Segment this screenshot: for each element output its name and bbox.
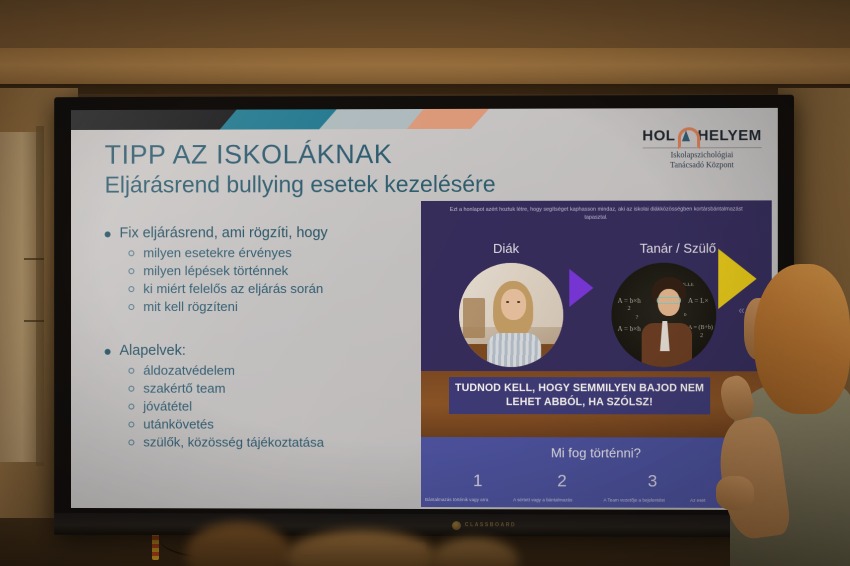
- chalk-formula: A = b×h: [618, 297, 641, 305]
- presenter-person: [720, 236, 850, 566]
- slide-bullet-list: Fix eljárásrend, ami rögzíti, hogy milye…: [105, 225, 433, 453]
- bullet-circle-icon: [128, 250, 134, 256]
- interactive-display[interactable]: HOL HELYEM Iskolapszichológiai Tanácsadó…: [54, 95, 794, 538]
- bullet-group-heading: Fix eljárásrend, ami rögzíti, hogy: [105, 225, 433, 241]
- display-brand-logo: CLASSBOARD: [452, 521, 516, 530]
- list-item: utánkövetés: [128, 417, 433, 432]
- bullet-circle-icon: [128, 268, 134, 274]
- whiteboard-marking: [24, 258, 44, 260]
- chalk-formula: 2: [628, 306, 631, 312]
- slide-title: TIPP AZ ISKOLÁKNAK: [105, 139, 393, 171]
- organization-logo: HOL HELYEM Iskolapszichológiai Tanácsadó…: [642, 126, 761, 170]
- wall-trim-band: [0, 48, 850, 86]
- slide-subtitle: Eljárásrend bullying esetek kezelésére: [105, 171, 496, 199]
- whiteboard-marking: [24, 320, 44, 322]
- brand-name: CLASSBOARD: [465, 522, 516, 528]
- website-intro-text: Ezt a honlapot azért hoztuk létre, hogy …: [443, 205, 750, 222]
- bullet-circle-icon: [128, 404, 134, 410]
- presenter-hair: [754, 264, 850, 414]
- bullet-circle-icon: [128, 422, 134, 428]
- logo-wordmark: HOL HELYEM: [642, 126, 761, 144]
- chalk-formula: ?: [636, 315, 639, 321]
- bullet-group-heading: Alapelvek:: [105, 343, 433, 359]
- step-caption: A Team vezetője a bejelentést: [603, 498, 682, 504]
- audience-label-teacher-parent: Tanár / Szülő: [640, 241, 716, 256]
- bullet-circle-icon: [128, 286, 134, 292]
- teacher-photo: A = b×h 2 A = L× ? A = b×h A = (B+b) 2 b…: [611, 263, 716, 367]
- glasses-icon: [657, 297, 681, 304]
- list-item: áldozatvédelem: [128, 363, 433, 378]
- bullet-dot-icon: [105, 231, 111, 237]
- step-caption: A sértett vagy a bántalmazás: [513, 497, 591, 503]
- classroom-scene: HOL HELYEM Iskolapszichológiai Tanácsadó…: [0, 0, 850, 566]
- step-number: 3: [648, 472, 658, 492]
- step-caption: Bántalmazás történik vagy arra: [425, 497, 503, 503]
- list-spacer: [105, 317, 433, 343]
- ribbon-block-navy: [71, 110, 246, 130]
- list-item: szülők, közösség tájékoztatása: [128, 434, 433, 450]
- brand-mark-icon: [452, 521, 461, 530]
- key-message-text: TUDNOD KELL, HOGY SEMMILYEN BAJOD NEM LE…: [455, 382, 704, 409]
- bullet-circle-icon: [128, 386, 134, 392]
- whiteboard-edge: [36, 126, 44, 466]
- bullet-dot-icon: [105, 349, 111, 355]
- chalk-formula: A = L×: [688, 297, 709, 305]
- logo-word-right: HELYEM: [698, 127, 762, 144]
- display-bottom-bezel: CLASSBOARD: [54, 513, 794, 537]
- bullet-circle-icon: [128, 368, 134, 374]
- logo-divider: [642, 147, 761, 148]
- key-message-banner: TUDNOD KELL, HOGY SEMMILYEN BAJOD NEM LE…: [449, 377, 710, 415]
- list-item: milyen lépések történnek: [128, 263, 433, 278]
- list-item: milyen esetekre érvényes: [128, 245, 433, 260]
- student-torso: [487, 333, 541, 367]
- bullet-circle-icon: [128, 304, 134, 310]
- student-face: [501, 289, 526, 320]
- purple-arrow-accent: [569, 269, 593, 307]
- list-item: mit kell rögzíteni: [128, 299, 433, 314]
- audience-label-student: Diák: [493, 241, 519, 256]
- chalk-formula: A = b×h: [618, 325, 641, 333]
- wall-shadow-line: [0, 84, 850, 94]
- list-item: szakértő team: [128, 381, 433, 396]
- step-number: 2: [557, 471, 567, 491]
- list-item: ki miért felelős az eljárás során: [128, 281, 433, 296]
- presenter-raised-hand: [717, 373, 757, 423]
- chalk-formula: 2: [700, 333, 703, 339]
- logo-subtitle: Iskolapszichológiai Tanácsadó Központ: [642, 150, 761, 170]
- logo-word-left: HOL: [642, 127, 675, 144]
- student-photo: [459, 263, 563, 367]
- bullet-circle-icon: [128, 439, 134, 445]
- presentation-slide: HOL HELYEM Iskolapszichológiai Tanácsadó…: [71, 108, 778, 510]
- step-number: 1: [473, 471, 482, 491]
- chalk-formula: A = (B+b): [688, 325, 713, 331]
- list-item: jóvátétel: [128, 399, 433, 414]
- presenter-lower-hand: [716, 476, 754, 510]
- chalk-formula: b: [684, 313, 687, 318]
- home-arch-icon: [677, 126, 695, 144]
